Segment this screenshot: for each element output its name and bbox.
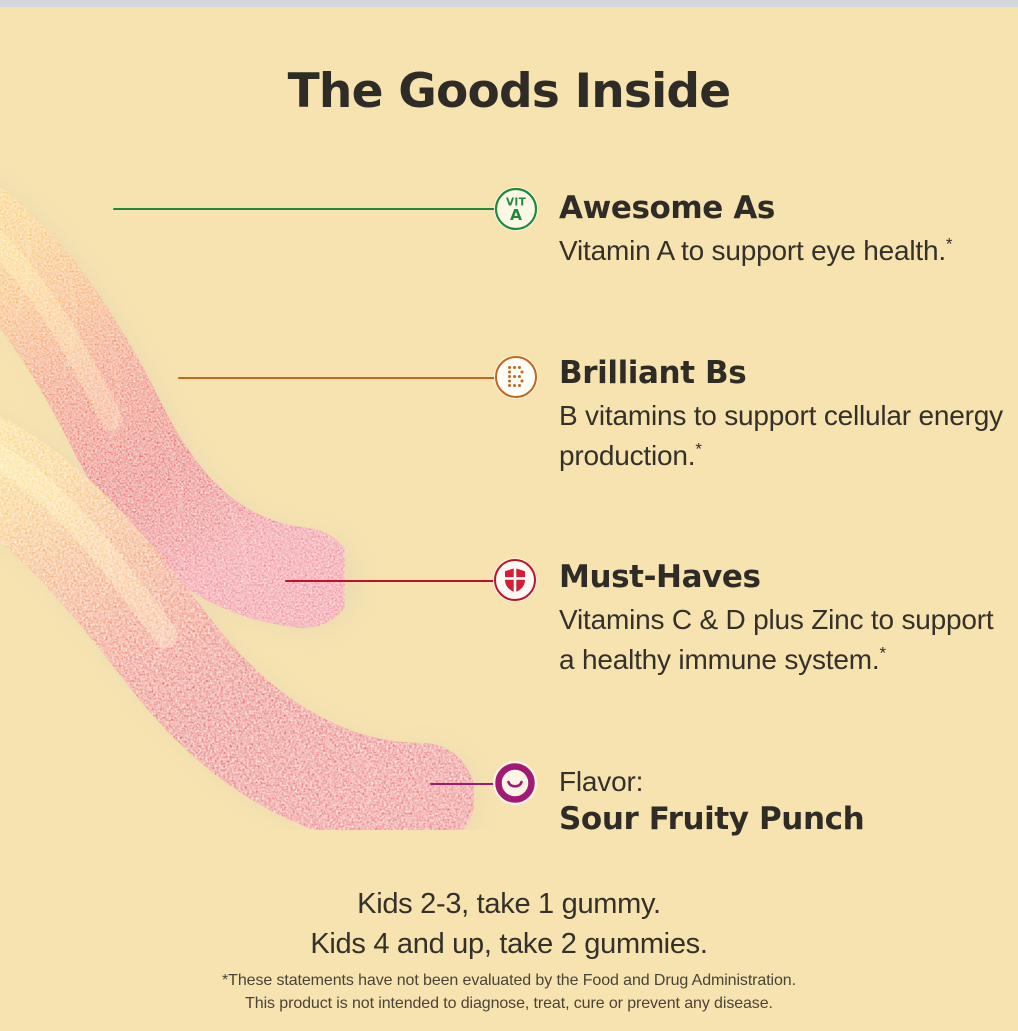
page-top-edge-strip: [0, 0, 1018, 7]
smile-face-icon: [493, 761, 537, 805]
footnote-marker: *: [695, 440, 701, 459]
benefit-heading: Must-Haves: [559, 560, 1009, 595]
disclaimer-line-2: This product is not intended to diagnose…: [0, 992, 1018, 1016]
connector-line-must-haves: [285, 580, 496, 582]
benefit-body: B vitamins to support cellular energy pr…: [559, 396, 1009, 477]
page-title: The Goods Inside: [0, 64, 1018, 119]
flavor-value: Sour Fruity Punch: [559, 800, 1009, 839]
benefit-item-brilliant-bs: Brilliant Bs B vitamins to support cellu…: [559, 356, 1009, 476]
benefit-body: Vitamin A to support eye health.*: [559, 231, 1009, 271]
benefit-heading: Brilliant Bs: [559, 356, 1009, 391]
flavor-label: Flavor:: [559, 764, 1009, 800]
connector-line-flavor: [430, 783, 496, 785]
b-vitamins-dots-icon: [494, 355, 538, 399]
connector-line-brilliant-bs: [178, 377, 496, 379]
product-benefits-infographic: The Goods Inside: [0, 0, 1018, 1031]
connector-line-vitamin-a: [113, 208, 496, 210]
benefit-item-must-haves: Must-Haves Vitamins C & D plus Zinc to s…: [559, 560, 1009, 680]
dosage-line-1: Kids 2-3, take 1 gummy.: [0, 884, 1018, 924]
vitamin-a-icon: VIT A: [494, 187, 538, 231]
disclaimer-line-1: *These statements have not been evaluate…: [0, 969, 1018, 993]
svg-text:A: A: [510, 206, 522, 224]
benefit-heading: Awesome As: [559, 191, 1009, 226]
benefit-body: Vitamins C & D plus Zinc to support a he…: [559, 600, 1009, 681]
gummy-worms-image: [0, 150, 500, 830]
footnote-marker: *: [879, 644, 885, 663]
benefit-item-flavor: Flavor: Sour Fruity Punch: [559, 764, 1009, 839]
benefit-item-vitamin-a: Awesome As Vitamin A to support eye heal…: [559, 191, 1009, 271]
footnote-marker: *: [946, 234, 952, 253]
shield-icon: [493, 558, 537, 602]
dosage-line-2: Kids 4 and up, take 2 gummies.: [0, 924, 1018, 964]
